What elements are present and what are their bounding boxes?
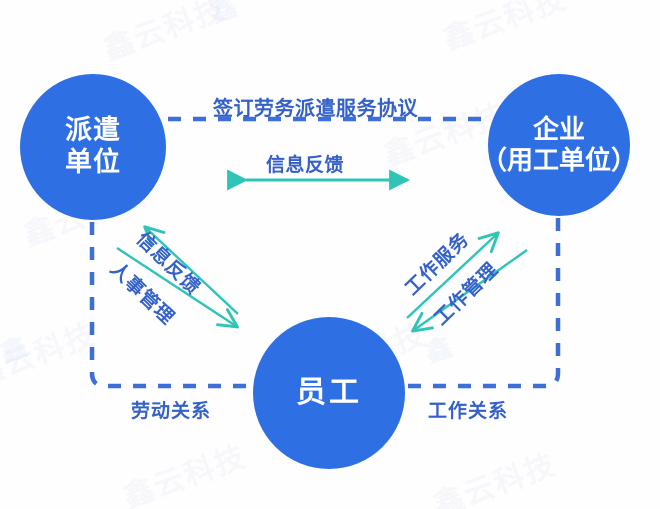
label-service-agreement: 签订劳务派遣服务协议 (213, 92, 418, 121)
node-enterprise-line1: 企业 (533, 114, 585, 145)
label-work-relation: 工作关系 (428, 396, 508, 423)
label-labor-relation: 劳动关系 (131, 396, 211, 423)
node-dispatch-unit-line1: 派遣 (65, 115, 121, 147)
label-information-feedback-top: 信息反馈 (266, 150, 344, 177)
dashed-line-right (406, 218, 558, 386)
diagram-canvas: 鑫云科技 鑫云科技 鑫云科技 鑫云科技 鑫云科技 鑫云科技 鑫云科技 鑫云科技 … (0, 0, 660, 509)
node-enterprise[interactable]: 企业 （用工单位） (488, 74, 630, 216)
node-dispatch-unit[interactable]: 派遣 单位 (20, 74, 166, 220)
node-enterprise-line2: （用工单位） (481, 145, 637, 176)
node-employee-line1: 员工 (296, 375, 362, 410)
node-employee[interactable]: 员工 (253, 317, 405, 469)
node-dispatch-unit-line2: 单位 (65, 147, 121, 179)
